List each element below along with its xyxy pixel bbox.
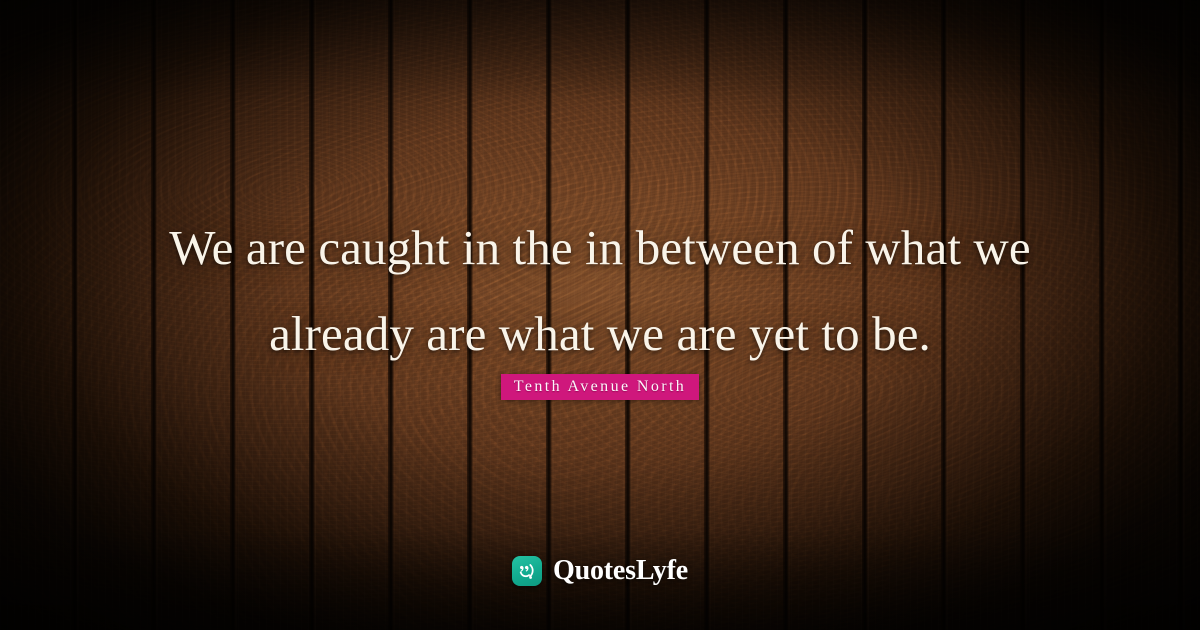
smiley-quote-icon [512,556,542,586]
card-content: We are caught in the in between of what … [0,0,1200,630]
author-row: Tenth Avenue North [0,374,1200,400]
quote-card: We are caught in the in between of what … [0,0,1200,630]
quoteslyfe-wordmark: QuotesLyfe [553,556,688,586]
author-badge: Tenth Avenue North [501,374,699,400]
quote-block: We are caught in the in between of what … [0,205,1200,377]
quoteslyfe-logo[interactable]: QuotesLyfe [0,556,1200,586]
quote-text: We are caught in the in between of what … [104,205,1096,377]
